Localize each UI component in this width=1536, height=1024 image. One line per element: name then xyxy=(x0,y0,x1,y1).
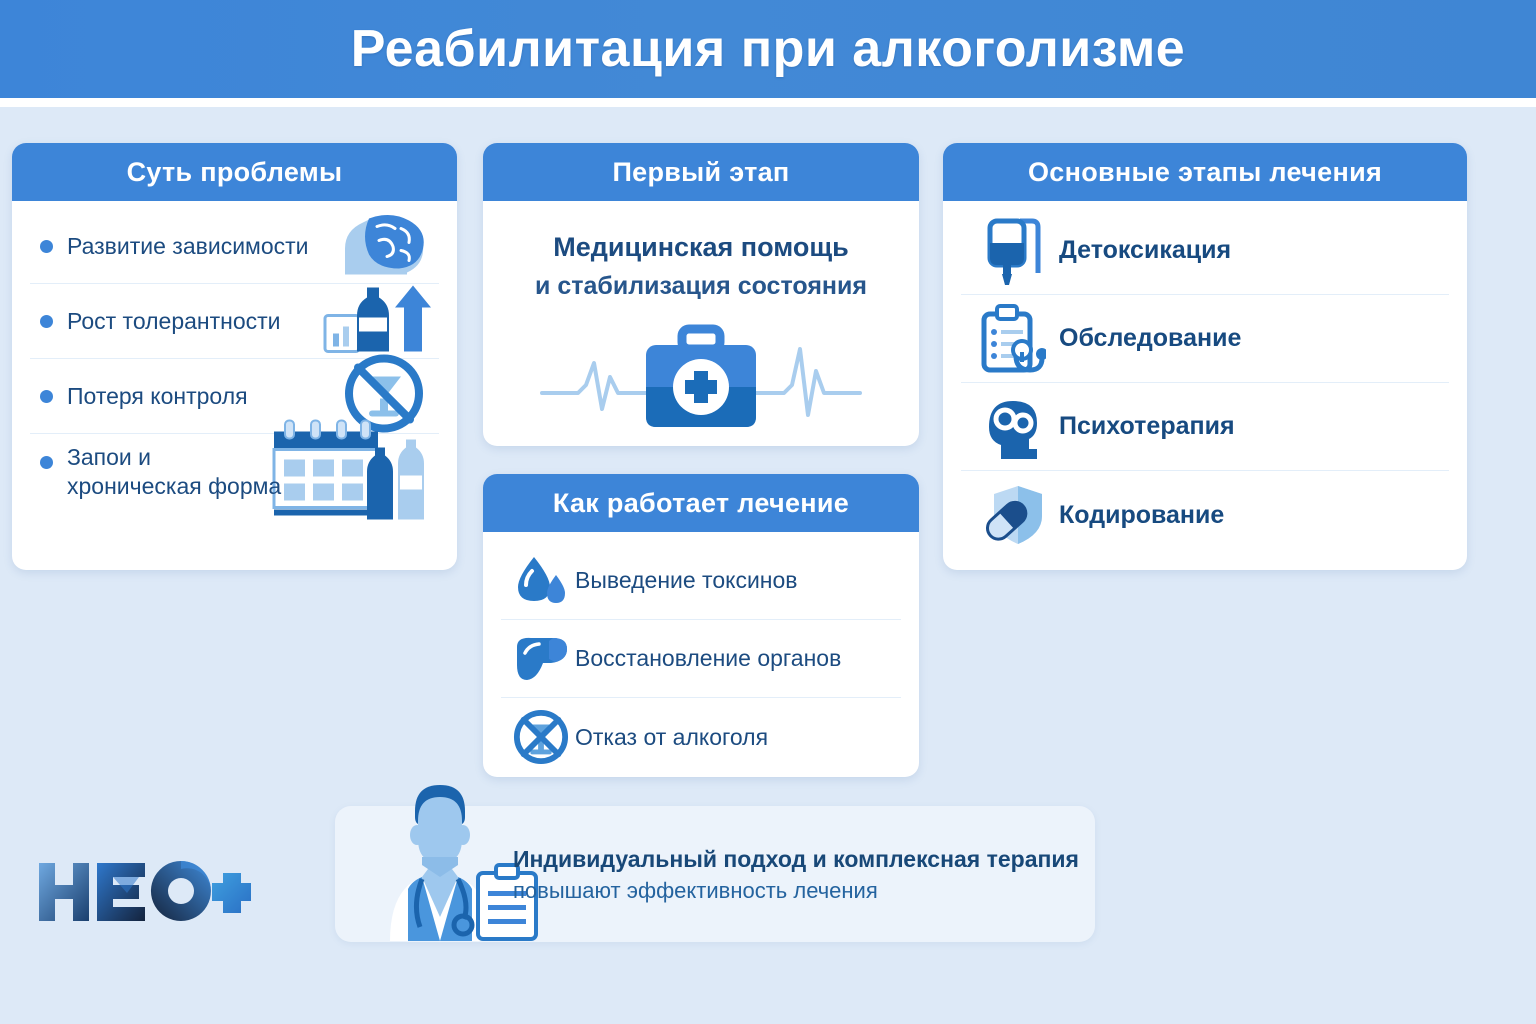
card-first-stage-title: Первый этап xyxy=(483,143,919,201)
head-gears-icon xyxy=(977,393,1049,461)
page-header: Реабилитация при алкоголизме xyxy=(0,0,1536,98)
bottle-chart-up-arrow-icon xyxy=(323,284,433,359)
list-item[interactable]: Потеря контроля xyxy=(30,359,439,434)
first-stage-line1: Медицинская помощь xyxy=(501,227,901,268)
first-stage-line2: и стабилизация состояния xyxy=(501,268,901,306)
list-item[interactable]: Детоксикация xyxy=(961,207,1449,295)
treatment-stages-list: Детоксикация xyxy=(961,201,1449,559)
list-item-label: Кодирование xyxy=(1059,501,1224,530)
header-underline xyxy=(0,98,1536,107)
card-problem-title: Суть проблемы xyxy=(12,143,457,201)
card-treatment-stages: Основные этапы лечения Детоксикация xyxy=(943,143,1467,570)
first-stage-text: Медицинская помощь и стабилизация состоя… xyxy=(501,201,901,305)
list-item-label: Запои и хроническая форма xyxy=(67,443,281,499)
list-item[interactable]: Рост толерантности xyxy=(30,284,439,359)
pill-shield-icon xyxy=(977,482,1049,548)
list-item[interactable]: Восстановление органов xyxy=(501,620,901,698)
clipboard-checkup-icon xyxy=(977,304,1049,374)
bullet-icon xyxy=(40,390,53,403)
page-title: Реабилитация при алкоголизме xyxy=(351,19,1185,79)
problem-list: Развитие зависимости Рост толерантности xyxy=(30,201,439,509)
list-item[interactable]: Развитие зависимости xyxy=(30,209,439,284)
list-item-label: Выведение токсинов xyxy=(575,567,798,594)
first-stage-icon-wrap xyxy=(501,319,901,436)
list-item-label: Восстановление органов xyxy=(575,645,841,672)
iv-drip-bag-icon xyxy=(977,215,1049,287)
banner-line1: Индивидуальный подход и комплексная тера… xyxy=(513,844,1079,875)
list-item[interactable]: Отказ от алкоголя xyxy=(501,698,901,776)
list-item[interactable]: Психотерапия xyxy=(961,383,1449,471)
list-item-label-line1: Запои и xyxy=(67,444,151,470)
banner-text: Индивидуальный подход и комплексная тера… xyxy=(513,844,1079,907)
list-item-label: Обследование xyxy=(1059,324,1241,353)
no-alcohol-wheel-icon xyxy=(513,708,569,766)
list-item[interactable]: Выведение токсинов xyxy=(501,542,901,620)
list-item-label: Рост толерантности xyxy=(67,307,281,335)
list-item-label: Отказ от алкоголя xyxy=(575,724,768,751)
calendar-bottles-icon xyxy=(269,417,439,526)
card-how-it-works-title: Как работает лечение xyxy=(483,474,919,532)
card-first-stage: Первый этап Медицинская помощь и стабили… xyxy=(483,143,919,446)
card-treatment-stages-title: Основные этапы лечения xyxy=(943,143,1467,201)
list-item-label: Психотерапия xyxy=(1059,412,1235,441)
list-item[interactable]: Кодирование xyxy=(961,471,1449,559)
neo-plus-logo[interactable] xyxy=(35,855,255,927)
list-item[interactable]: Запои и хроническая форма xyxy=(30,434,439,509)
water-droplet-icon xyxy=(513,555,569,607)
list-item[interactable]: Обследование xyxy=(961,295,1449,383)
liver-icon xyxy=(513,635,569,683)
list-item-label: Потеря контроля xyxy=(67,382,248,410)
list-item-label: Развитие зависимости xyxy=(67,232,309,260)
banner-line2: повышают эффективность лечения xyxy=(513,875,1079,907)
no-alcohol-icon xyxy=(341,351,427,442)
logo-svg xyxy=(35,855,255,927)
bottom-banner: Индивидуальный подход и комплексная тера… xyxy=(335,806,1095,942)
card-how-it-works: Как работает лечение Выведение токсинов xyxy=(483,474,919,777)
card-problem: Суть проблемы Развитие зависимости xyxy=(12,143,457,570)
list-item-label-line2: хроническая форма xyxy=(67,473,281,499)
how-it-works-list: Выведение токсинов Восстановление органо… xyxy=(501,532,901,776)
bullet-icon xyxy=(40,456,53,469)
list-item-label: Детоксикация xyxy=(1059,236,1231,265)
bullet-icon xyxy=(40,315,53,328)
medical-kit-ecg-icon xyxy=(536,319,866,436)
bullet-icon xyxy=(40,240,53,253)
brain-head-icon xyxy=(339,211,435,282)
